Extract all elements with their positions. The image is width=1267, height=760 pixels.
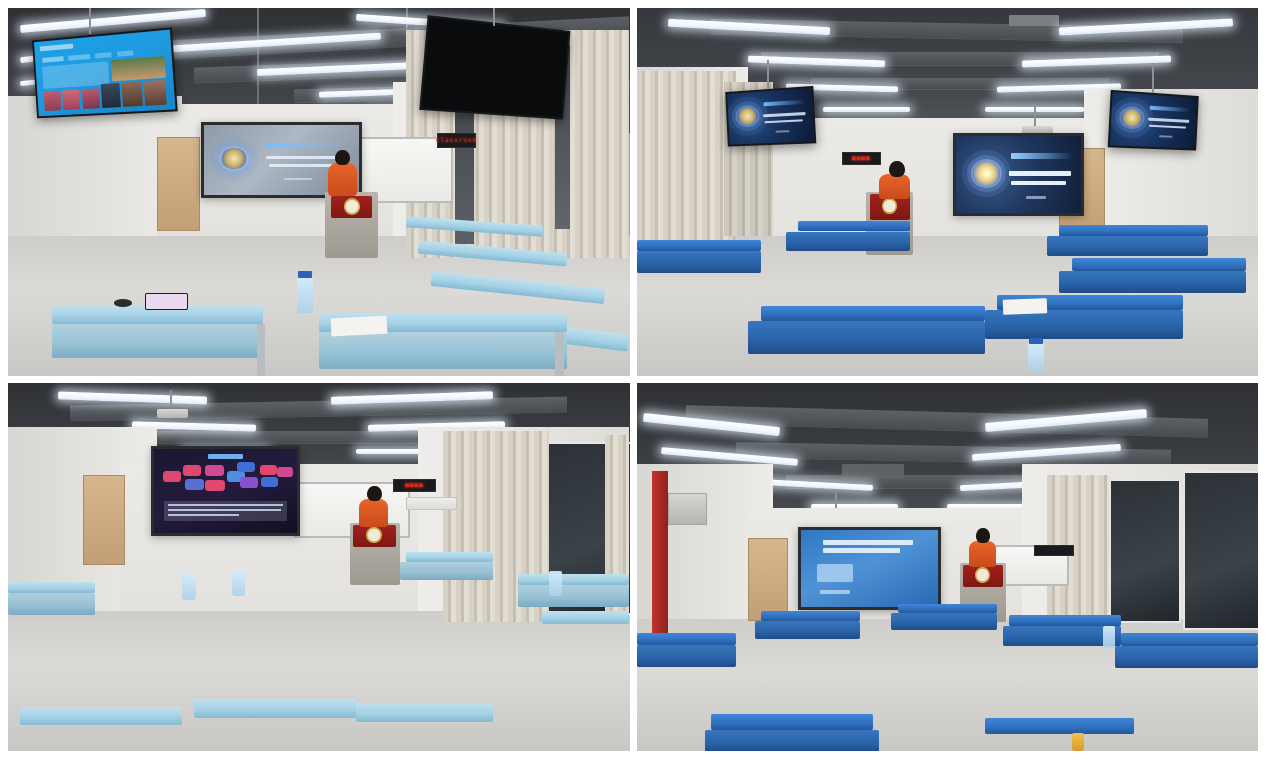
slide-caption-line — [820, 590, 850, 594]
floor — [8, 611, 630, 751]
tv-nav-item[interactable] — [68, 54, 89, 60]
tv-thumbnail[interactable] — [43, 90, 61, 110]
notebook — [1003, 298, 1047, 314]
classroom-door[interactable] — [748, 538, 787, 621]
desk — [356, 703, 493, 721]
slide-footer-line — [1026, 196, 1046, 199]
desk-front-panel — [319, 332, 568, 369]
podium-emblem-icon — [882, 198, 897, 215]
tv-thumbnail[interactable] — [81, 88, 100, 109]
podium-emblem-icon — [344, 198, 360, 215]
classroom-scene — [637, 383, 1259, 751]
desk-front-panel — [637, 251, 761, 273]
mindmap-node — [237, 462, 256, 472]
mindmap-node — [277, 467, 293, 477]
wall-tv-right[interactable] — [420, 15, 571, 120]
tv-screen — [1110, 92, 1197, 148]
speaker-head — [335, 150, 350, 165]
slide-emblem-icon — [737, 107, 758, 125]
slide-title-line — [1148, 117, 1190, 122]
mindmap-node — [185, 479, 204, 490]
desk — [711, 714, 873, 730]
water-bottle — [549, 571, 563, 597]
slide-subtitle-line — [764, 119, 802, 123]
desk — [1072, 258, 1246, 271]
desk — [1059, 225, 1208, 236]
slide-content — [956, 136, 1080, 213]
desk-leg — [555, 332, 564, 376]
desk-front-panel — [8, 593, 95, 615]
classroom-door[interactable] — [83, 475, 125, 565]
ceiling-light — [823, 107, 910, 112]
tablet-screen — [146, 294, 188, 309]
slide-subtitle-line — [1011, 181, 1066, 185]
desk-front-panel — [985, 310, 1184, 339]
desk-front-panel — [1115, 646, 1258, 668]
mouse[interactable] — [114, 299, 133, 307]
led-display — [1034, 545, 1073, 557]
mindmap-node — [163, 471, 182, 482]
ceiling-pipe — [257, 8, 259, 118]
speaker-body — [328, 163, 357, 196]
tv-mount-rod — [1152, 63, 1154, 92]
desk-front-panel — [52, 324, 263, 357]
mindmap-node — [240, 477, 259, 488]
tv-thumbnail[interactable] — [143, 79, 166, 105]
desk — [406, 552, 493, 562]
tv-screen — [34, 29, 175, 116]
desk — [761, 611, 860, 621]
tv-mount-rod — [493, 8, 495, 26]
desk — [637, 633, 736, 645]
desk-front-panel — [1059, 271, 1245, 293]
bottle-cap — [298, 271, 312, 278]
wall-tv-left[interactable] — [32, 27, 178, 118]
classroom-door[interactable] — [157, 137, 199, 231]
slide-emblem-icon — [973, 161, 1000, 186]
slide-title-line — [266, 156, 344, 159]
ac-vent — [406, 497, 458, 510]
window — [1109, 479, 1181, 623]
slide-title-line — [1009, 171, 1071, 176]
tv-mount-rod — [89, 8, 91, 34]
led-display: ■■■■ — [393, 479, 435, 493]
slide-footer-line — [775, 130, 789, 132]
speaker-body — [969, 541, 996, 567]
slide-accent-bar — [266, 143, 347, 147]
window — [1183, 471, 1258, 630]
desk — [1121, 633, 1258, 646]
window-curtain — [637, 71, 736, 248]
projection-screen — [151, 446, 300, 537]
ceiling-vent — [842, 464, 904, 479]
tv-thumbnail[interactable] — [62, 89, 80, 110]
wall-tv-left[interactable] — [725, 86, 816, 146]
desk-leg — [257, 324, 266, 376]
desk-front-panel — [891, 613, 997, 630]
slide-emblem-icon — [1121, 108, 1143, 127]
speaker-head — [889, 161, 905, 177]
mindmap-node — [261, 477, 278, 487]
desk — [518, 574, 630, 585]
slide-footer-line — [284, 178, 312, 180]
slide-accent-bar — [1011, 153, 1073, 158]
desk-front-panel — [705, 730, 879, 751]
slide-text-block — [164, 501, 287, 521]
slide-footer-line — [1159, 135, 1172, 137]
desk-front-panel — [748, 321, 984, 354]
desk — [20, 707, 182, 725]
tv-thumbnail[interactable] — [110, 56, 165, 80]
mindmap-node — [183, 465, 202, 476]
tv-nav-item[interactable] — [95, 52, 112, 58]
mindmap-node — [260, 465, 277, 475]
bottle-cap — [1029, 338, 1043, 345]
classroom-scene: ■■■■ — [8, 383, 630, 751]
slide-title-line — [823, 540, 913, 545]
speaker-head — [367, 486, 382, 501]
slide-emblem-icon — [221, 148, 247, 169]
tv-screen — [727, 88, 814, 144]
slide-accent-bar — [763, 100, 804, 106]
slide-title-line — [208, 454, 242, 459]
classroom-scene: classroom — [8, 8, 630, 376]
desk — [637, 240, 761, 251]
water-bottle — [1103, 626, 1115, 648]
desk — [761, 306, 985, 321]
tv-nav-item[interactable] — [117, 50, 134, 56]
tv-thumbnail[interactable] — [100, 82, 121, 107]
slide-subtitle-line — [269, 164, 337, 167]
water-bottle — [182, 574, 196, 600]
ceiling-projector — [157, 409, 188, 419]
speaker-body — [879, 174, 910, 200]
tv-logo — [39, 43, 73, 51]
speaker-head — [976, 528, 990, 543]
tv-screen — [422, 17, 569, 118]
desk — [985, 718, 1134, 734]
desk-front-panel — [1047, 236, 1209, 256]
ceiling-vent — [1009, 15, 1059, 26]
desk — [542, 611, 629, 624]
mindmap-node — [205, 480, 225, 491]
desk-front-panel — [755, 621, 861, 639]
slide-accent-bar — [1150, 106, 1190, 112]
projection-screen — [953, 133, 1083, 216]
slide-content — [154, 449, 297, 534]
slide-title-line — [762, 112, 805, 117]
projector-mount — [1034, 104, 1036, 126]
desk-front-panel — [518, 585, 630, 607]
desk — [8, 582, 95, 593]
slide-title-line — [823, 548, 900, 553]
collage-panel-top-right[interactable]: Classroom with royal blue desks, two han… — [637, 8, 1259, 376]
collage-panel-bottom-right[interactable]: Wide classroom with red structural pilla… — [637, 383, 1259, 751]
photo-collage: Lecture hall with light blue desks, stud… — [0, 0, 1267, 760]
desk — [1009, 615, 1121, 626]
water-bottle — [297, 277, 313, 314]
classroom-scene: ■■■■ — [637, 8, 1259, 376]
tv-mount-rod — [767, 60, 769, 89]
desk — [898, 604, 997, 614]
desk-front-panel — [786, 232, 910, 250]
tablet-on-desk[interactable] — [145, 293, 189, 310]
wall-tv-right[interactable] — [1108, 89, 1199, 149]
projection-screen — [798, 527, 941, 610]
desk — [798, 221, 910, 231]
mindmap-node — [205, 465, 224, 476]
desk-front-panel — [637, 645, 736, 667]
desk — [194, 699, 356, 717]
slide-content — [801, 530, 938, 607]
led-display: ■■■■ — [842, 152, 881, 165]
collage-panel-bottom-left[interactable]: Dimmed classroom, mind-map slide with co… — [8, 383, 630, 751]
handout-paper — [331, 316, 388, 337]
slide-illustration — [817, 564, 853, 583]
desk-front-panel — [400, 562, 493, 580]
collage-panel-top-left[interactable]: Lecture hall with light blue desks, stud… — [8, 8, 630, 376]
led-display: classroom — [437, 133, 476, 148]
tv-hero-card[interactable] — [42, 62, 110, 90]
red-pillar — [652, 471, 668, 633]
wall-cabinet — [668, 493, 707, 524]
projector-mount — [170, 390, 172, 408]
speaker-body — [359, 499, 388, 527]
slide-subtitle-line — [1149, 124, 1186, 128]
tv-thumbnail[interactable] — [122, 81, 143, 106]
tv-nav-item[interactable] — [42, 56, 63, 62]
water-bottle — [1028, 343, 1044, 372]
drink-bottle — [1072, 733, 1084, 751]
water-bottle — [232, 571, 246, 597]
